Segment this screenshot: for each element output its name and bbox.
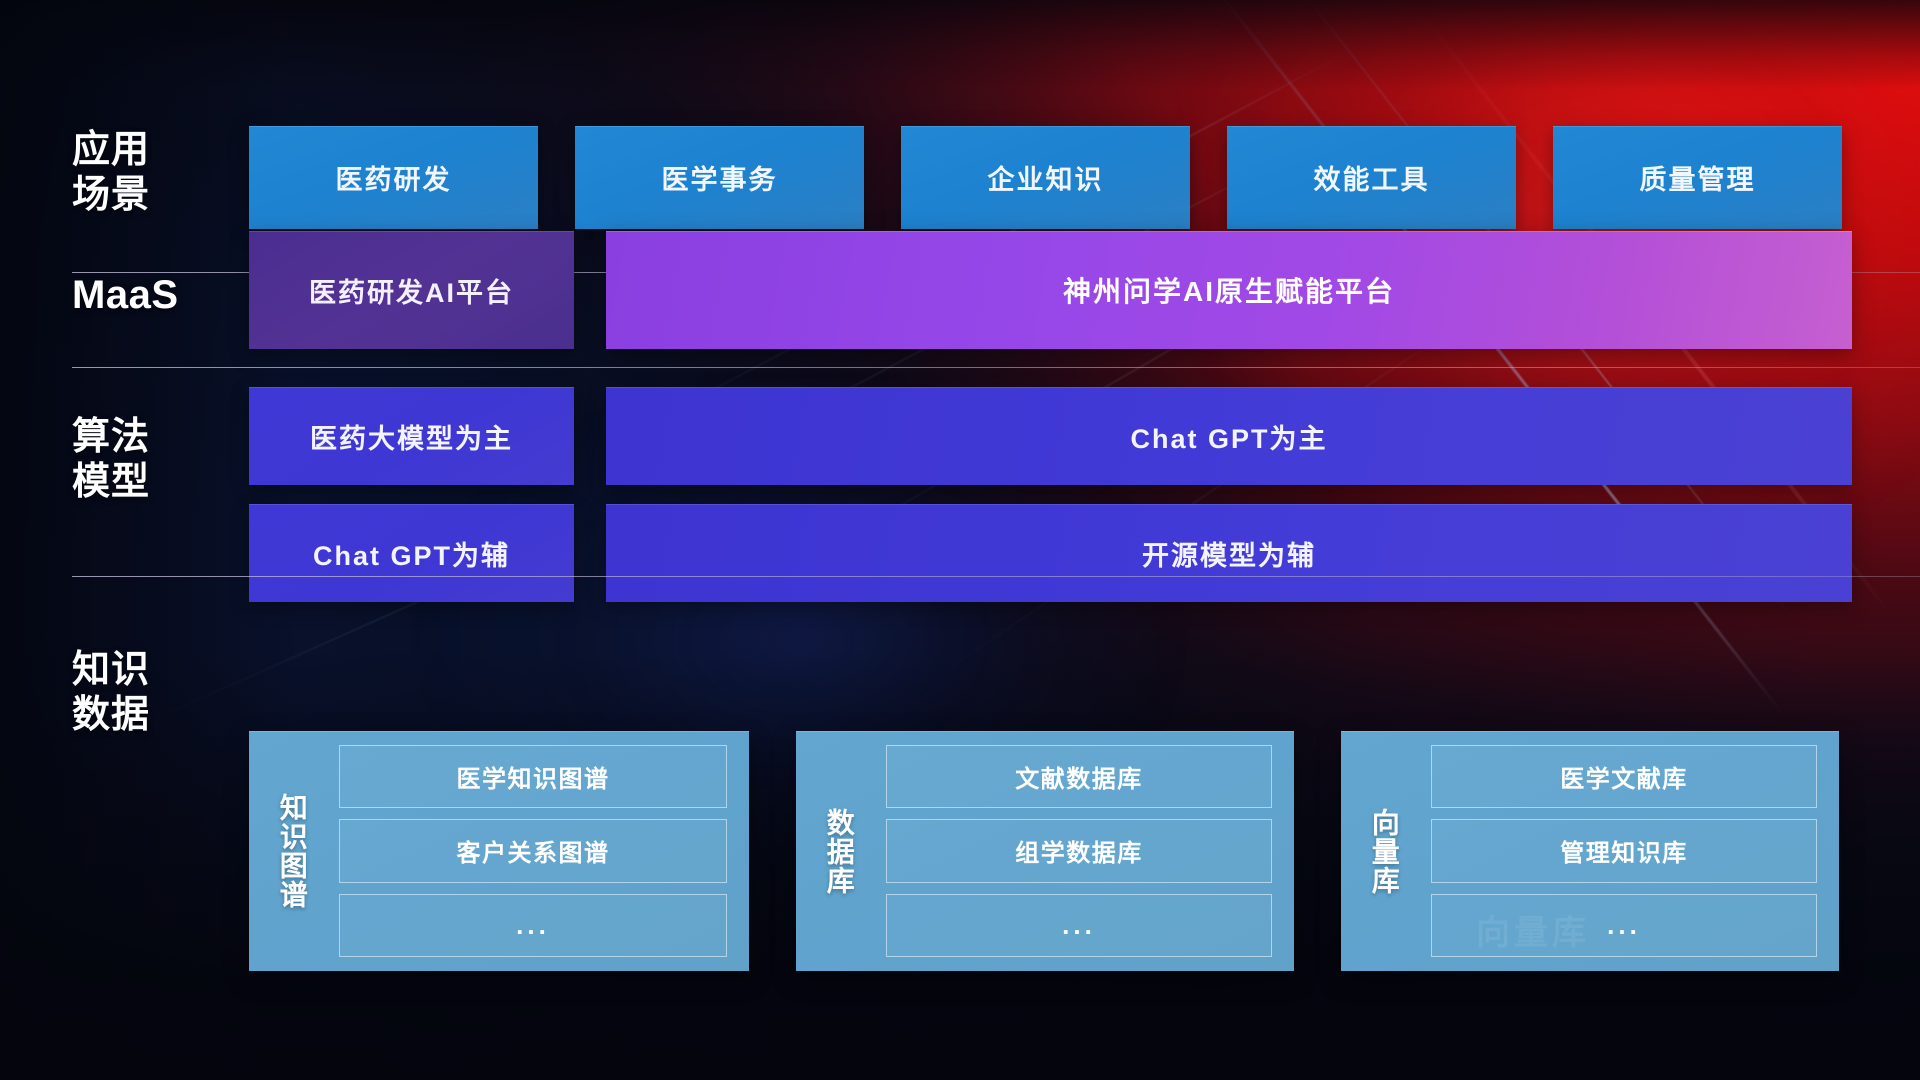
knowledge-card-items-database: 文献数据库 组学数据库 ... bbox=[868, 745, 1276, 957]
application-box-medicine-rd[interactable]: 医药研发 bbox=[249, 126, 538, 229]
row-label-algorithms-line1: 算法 bbox=[72, 415, 252, 460]
algorithm-box-grid: 医药大模型为主 Chat GPT为辅 Chat GPT为主 开源模型为辅 bbox=[249, 387, 1920, 602]
knowledge-item-management-knowledge-store[interactable]: 管理知识库 bbox=[1431, 819, 1817, 882]
row-label-applications: 应用 场景 bbox=[72, 128, 252, 218]
knowledge-card-title-database: 数据库 bbox=[810, 745, 868, 957]
knowledge-item-more-knowledge-graph[interactable]: ... bbox=[339, 894, 727, 957]
knowledge-card-list: 知识图谱 医学知识图谱 客户关系图谱 ... 数据库 文献数据库 组学数据库 .… bbox=[249, 731, 1920, 971]
application-box-medical-affairs[interactable]: 医学事务 bbox=[575, 126, 864, 229]
row-label-knowledge: 知识 数据 bbox=[72, 648, 252, 738]
knowledge-card-knowledge-graph[interactable]: 知识图谱 医学知识图谱 客户关系图谱 ... bbox=[249, 731, 749, 971]
row-label-algorithms-line2: 模型 bbox=[72, 460, 252, 505]
algorithm-column-left: 医药大模型为主 Chat GPT为辅 bbox=[249, 387, 574, 602]
row-label-applications-line2: 场景 bbox=[72, 173, 252, 218]
knowledge-item-medical-knowledge-graph[interactable]: 医学知识图谱 bbox=[339, 745, 727, 808]
divider-algorithms-knowledge bbox=[72, 576, 1920, 577]
slide-canvas: 应用 场景 医药研发 医学事务 企业知识 效能工具 质量管理 MaaS 医药研发… bbox=[0, 0, 1920, 1080]
application-box-quality-management[interactable]: 质量管理 bbox=[1553, 126, 1842, 229]
knowledge-item-more-database[interactable]: ... bbox=[886, 894, 1272, 957]
knowledge-card-title-knowledge-graph: 知识图谱 bbox=[263, 745, 321, 957]
architecture-diagram: 应用 场景 医药研发 医学事务 企业知识 效能工具 质量管理 MaaS 医药研发… bbox=[0, 0, 1920, 1080]
knowledge-card-database[interactable]: 数据库 文献数据库 组学数据库 ... bbox=[796, 731, 1294, 971]
algorithm-column-right: Chat GPT为主 开源模型为辅 bbox=[606, 387, 1852, 602]
algorithm-box-chatgpt-secondary[interactable]: Chat GPT为辅 bbox=[249, 504, 574, 602]
row-label-algorithms: 算法 模型 bbox=[72, 415, 252, 505]
row-label-applications-line1: 应用 bbox=[72, 128, 252, 173]
row-label-knowledge-line2: 数据 bbox=[72, 693, 252, 738]
maas-box-list: 医药研发AI平台 神州问学AI原生赋能平台 bbox=[249, 231, 1920, 349]
knowledge-item-more-vector-store[interactable]: ... bbox=[1431, 894, 1817, 957]
knowledge-item-omics-database[interactable]: 组学数据库 bbox=[886, 819, 1272, 882]
algorithm-box-opensource-secondary[interactable]: 开源模型为辅 bbox=[606, 504, 1852, 602]
knowledge-card-items-vector-store: 医学文献库 管理知识库 ... bbox=[1413, 745, 1821, 957]
knowledge-card-title-vector-store: 向量库 bbox=[1355, 745, 1413, 957]
maas-box-pharma-ai-platform[interactable]: 医药研发AI平台 bbox=[249, 231, 574, 349]
knowledge-card-items-knowledge-graph: 医学知识图谱 客户关系图谱 ... bbox=[321, 745, 731, 957]
application-box-list: 医药研发 医学事务 企业知识 效能工具 质量管理 bbox=[249, 126, 1920, 229]
knowledge-item-customer-relation-graph[interactable]: 客户关系图谱 bbox=[339, 819, 727, 882]
row-label-knowledge-line1: 知识 bbox=[72, 648, 252, 693]
algorithm-box-pharma-llm-primary[interactable]: 医药大模型为主 bbox=[249, 387, 574, 485]
knowledge-card-vector-store[interactable]: 向量库 医学文献库 管理知识库 ... bbox=[1341, 731, 1839, 971]
application-box-efficiency-tools[interactable]: 效能工具 bbox=[1227, 126, 1516, 229]
row-label-maas-text: MaaS bbox=[72, 272, 252, 319]
row-label-maas: MaaS bbox=[72, 272, 252, 319]
knowledge-item-medical-literature-store[interactable]: 医学文献库 bbox=[1431, 745, 1817, 808]
knowledge-item-literature-database[interactable]: 文献数据库 bbox=[886, 745, 1272, 808]
application-box-enterprise-knowledge[interactable]: 企业知识 bbox=[901, 126, 1190, 229]
algorithm-box-chatgpt-primary[interactable]: Chat GPT为主 bbox=[606, 387, 1852, 485]
maas-box-shenzhou-wenxue-platform[interactable]: 神州问学AI原生赋能平台 bbox=[606, 231, 1852, 349]
divider-maas-algorithms bbox=[72, 367, 1920, 368]
